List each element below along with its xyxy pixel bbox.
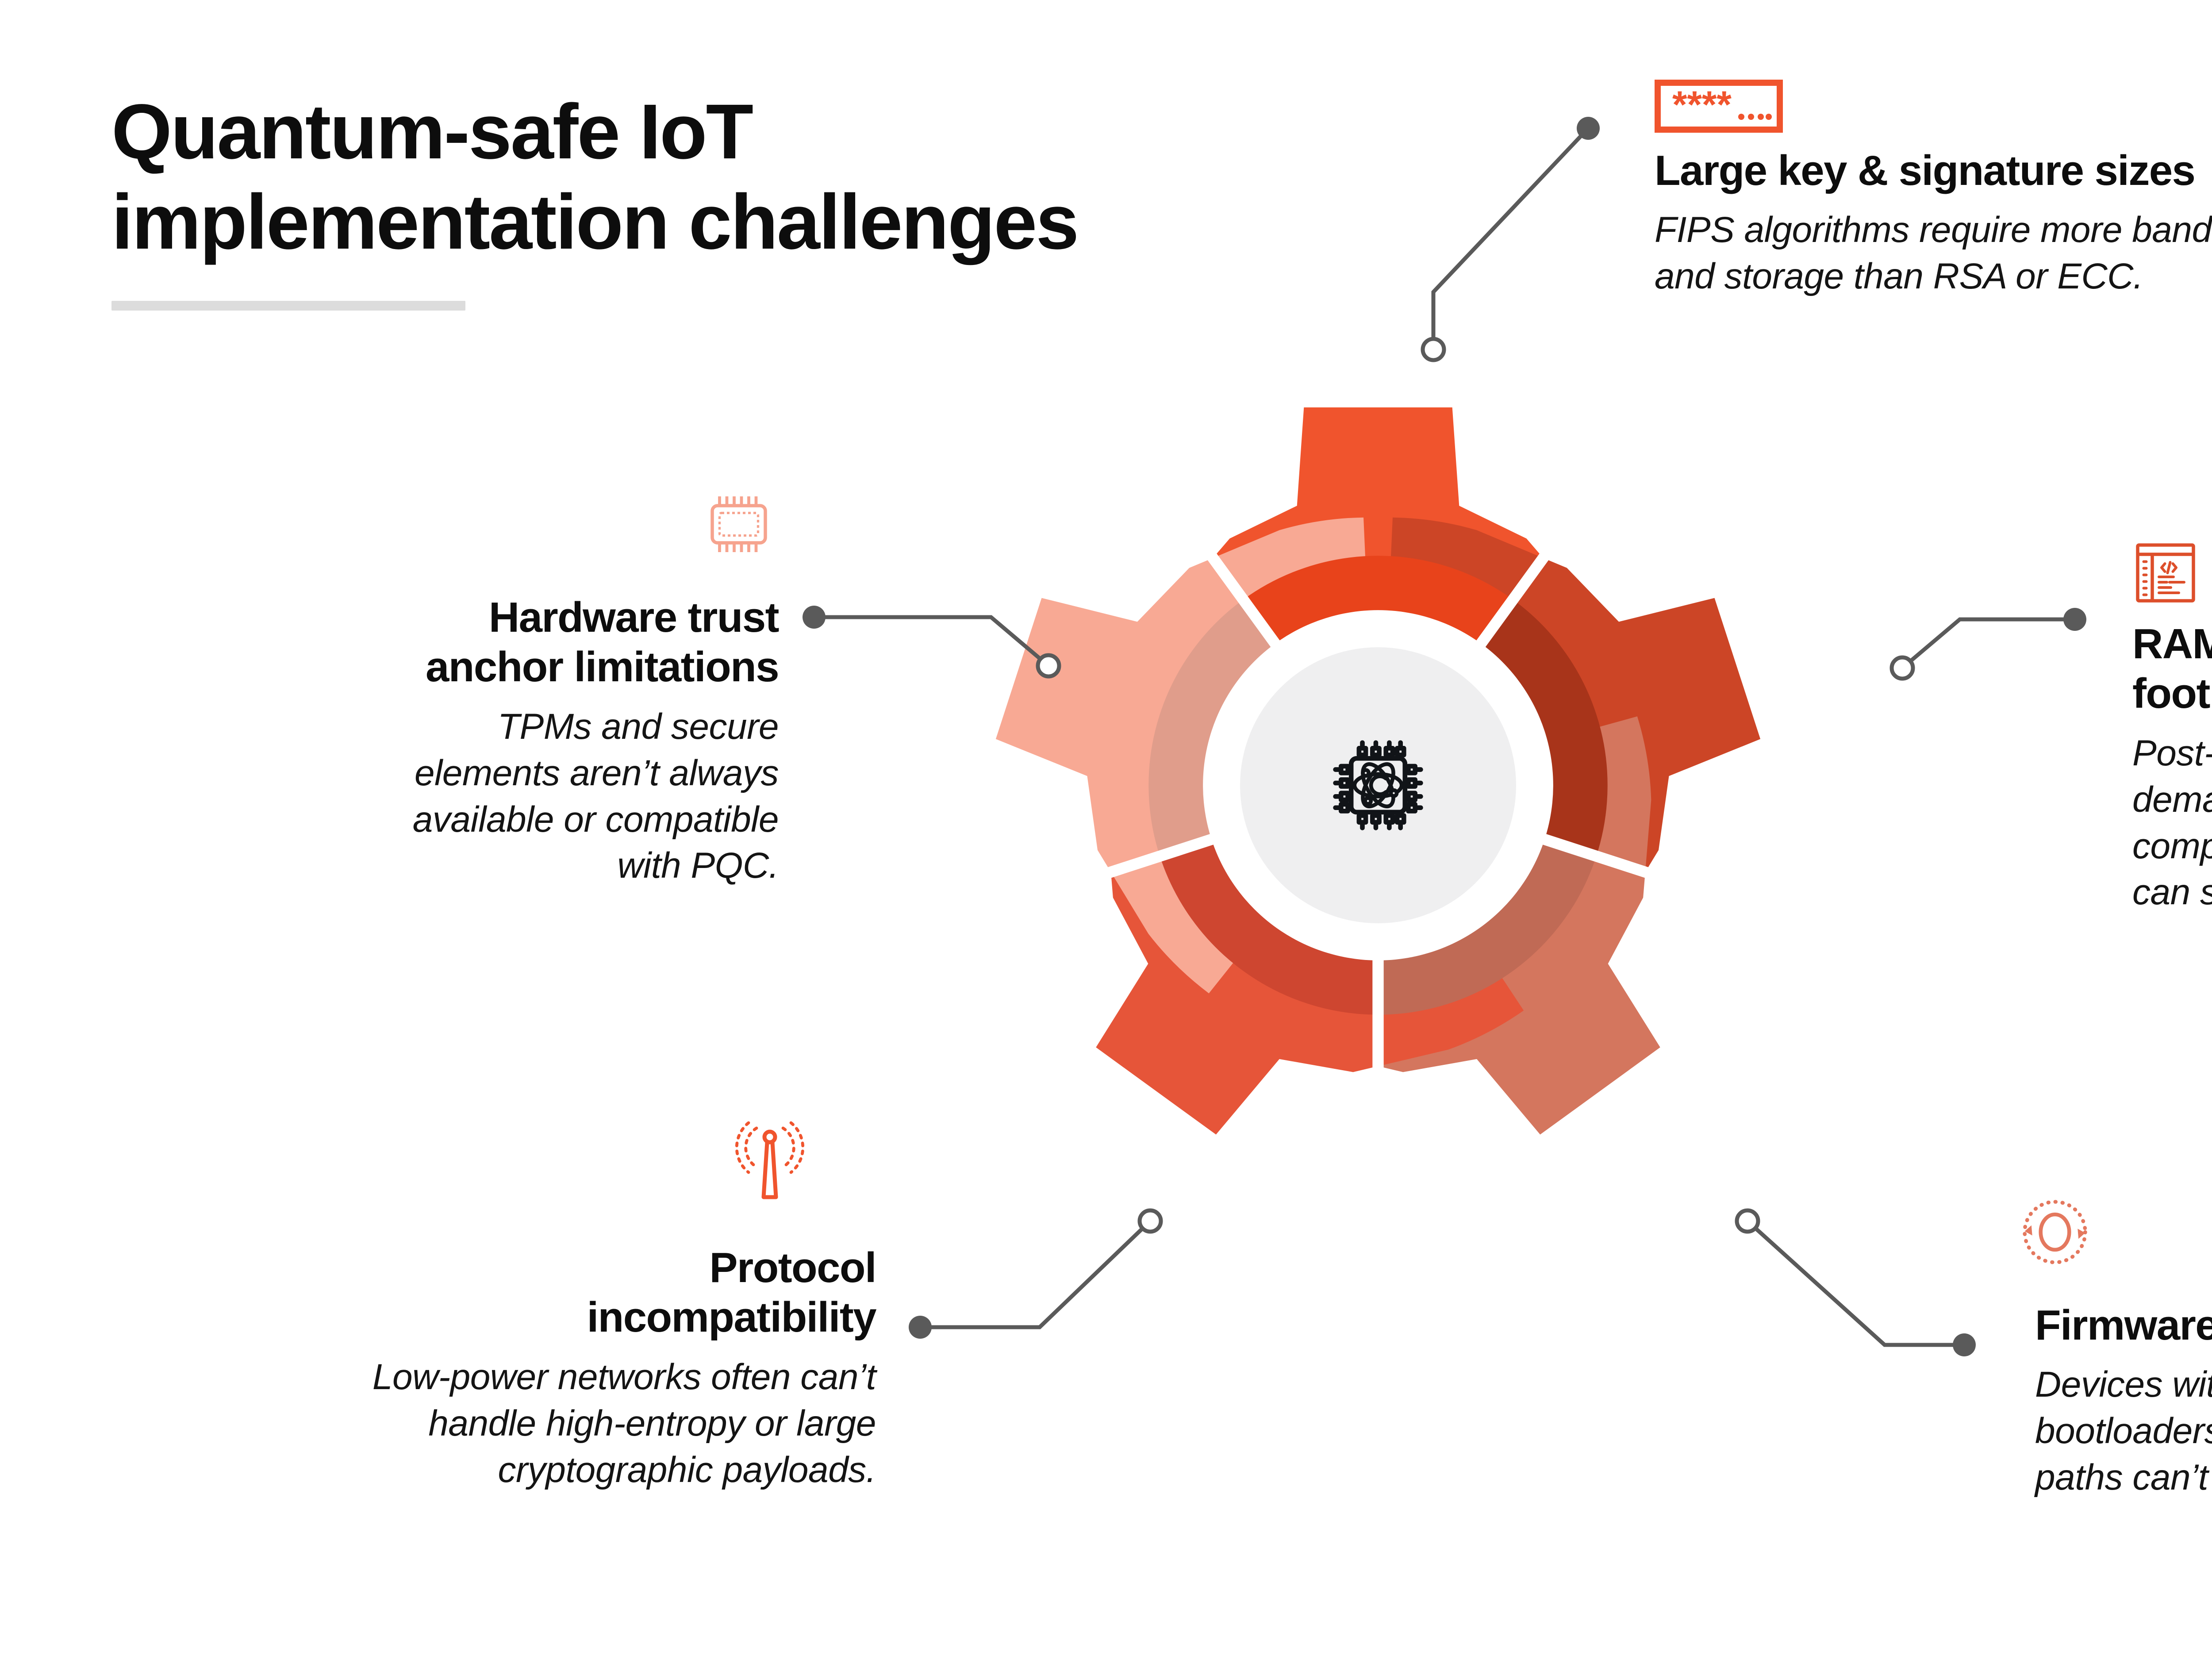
infographic-canvas: Quantum-safe IoT implementation challeng… [0,0,2212,1659]
callout-protocol-body: Low-power networks often can’t handle hi… [106,1354,876,1494]
callout-protocol-heading: Protocol incompatibility [106,1243,876,1343]
callout-hardware-body: TPMs and secure elements aren’t always a… [115,704,779,890]
connector-ram [1902,619,2075,668]
antenna-broadcast-icon [721,1119,818,1210]
refresh-cycle-icon [2013,1190,2097,1276]
connector-keys [1433,128,1588,349]
code-window-icon [2132,540,2199,608]
callout-ram-body: Post-quantum schemes demand more memory … [2132,730,2212,916]
callout-keys-heading: Large key & signature sizes [1655,146,2212,196]
callout-keys-body: FIPS algorithms require more bandwidth a… [1655,207,2212,300]
callout-hardware: Hardware trust anchor limitations TPMs a… [115,593,779,889]
page-title: Quantum-safe IoT implementation challeng… [111,87,1306,267]
callout-ram: RAM & code footprint limits Post-quantum… [2132,619,2212,916]
callout-hardware-heading: Hardware trust anchor limitations [115,593,779,692]
password-field-icon: **** [1655,80,1783,135]
callout-keys: **** Large key & signature sizes FIPS al… [1655,146,2212,300]
callout-firmware: Firmware update constraints Devices with… [2035,1301,2212,1501]
callout-firmware-heading: Firmware update constraints [2035,1301,2212,1350]
callout-protocol: Protocol incompatibility Low-power netwo… [106,1243,876,1493]
central-gear-diagram [947,354,1809,1217]
connector-firmware [1747,1221,1964,1345]
callout-firmware-body: Devices with immutable bootloaders or li… [2035,1362,2212,1501]
callout-ram-heading: RAM & code footprint limits [2132,619,2212,719]
connector-protocol [920,1221,1150,1327]
title-block: Quantum-safe IoT implementation challeng… [111,87,1306,311]
microchip-icon [699,491,779,560]
title-underline-rule [111,301,465,311]
svg-text:****: **** [1672,84,1732,126]
